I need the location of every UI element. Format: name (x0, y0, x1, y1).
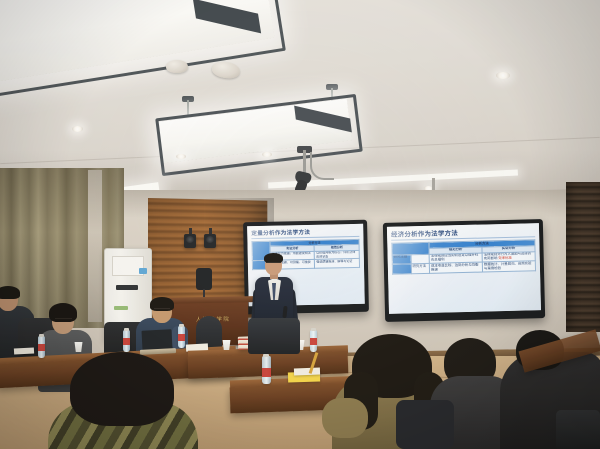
right-cell-b2: 数据统计、计量回归、自然实验与案例检验 (482, 261, 535, 272)
wall-speaker-icon (204, 234, 216, 248)
microphone-icon (196, 268, 212, 290)
right-cell-a2: 成本收益比较、边际分析与均衡推演 (429, 262, 482, 273)
bottle-cap (39, 334, 44, 337)
documents (14, 347, 34, 354)
meeting-room-photo: 定量分析作为法学方法 分析方法 实证分析 规范分析 以事实为依据，用数据说明法律… (0, 0, 600, 449)
left-slide-title: 定量分析作为法学方法 (251, 227, 359, 239)
conference-chair (248, 318, 300, 354)
left-cell-b2: 强调逻辑推演、解释与论证 (315, 259, 360, 269)
ac-display-slot (116, 285, 138, 290)
bottle-label (123, 338, 130, 345)
right-slide: 经济分析作为法学方法 分析方法 规范分析 实证分析 研究主题 法律规则应当如何设… (387, 223, 541, 314)
attendee-front-camo-head (70, 352, 174, 426)
ac-logo (114, 306, 128, 310)
bottle-cap (263, 354, 269, 357)
presenter-glasses-icon (266, 262, 281, 266)
right-slide-title: 经济分析作为法学方法 (391, 226, 535, 241)
bottle-cap (124, 328, 129, 331)
downlight (496, 72, 510, 79)
bottle-label (262, 368, 271, 377)
bottle-label (310, 338, 317, 345)
attendee-center-glasses-icon (154, 308, 170, 312)
right-row-label-2 (392, 264, 411, 274)
bottle-cap (311, 328, 316, 331)
attendee-left-rear-hair (0, 286, 20, 299)
downlight (72, 126, 83, 132)
right-row-label-1: 研究主题 (392, 254, 411, 264)
downlight (262, 152, 272, 157)
ac-badge (139, 268, 147, 274)
smoke-detector-icon (166, 60, 188, 73)
conference-chair (556, 410, 600, 449)
wall-speaker-icon (184, 234, 196, 248)
right-presentation-display[interactable]: 经济分析作为法学方法 分析方法 规范分析 实证分析 研究主题 法律规则应当如何设… (383, 219, 545, 322)
right-display-screen: 经济分析作为法学方法 分析方法 规范分析 实证分析 研究主题 法律规则应当如何设… (387, 223, 541, 314)
bottle-cap (179, 324, 184, 327)
attendee-left-front-glasses-icon (55, 318, 72, 322)
bottle-label (178, 334, 185, 341)
bottle-label (38, 344, 45, 351)
bag (396, 400, 454, 449)
louvered-wall-panel (566, 182, 600, 332)
documents (294, 368, 320, 376)
attendee-front-olive-arm (322, 398, 368, 438)
right-cell-highlight: 效率标准 (498, 256, 512, 260)
downlight (176, 154, 186, 159)
right-row-sub-2: 研究方法 (411, 264, 430, 274)
camera-cable (310, 152, 334, 180)
right-slide-table: 分析方法 规范分析 实证分析 研究主题 法律规则应当如何设定以提升社会总福利 法… (391, 239, 536, 274)
